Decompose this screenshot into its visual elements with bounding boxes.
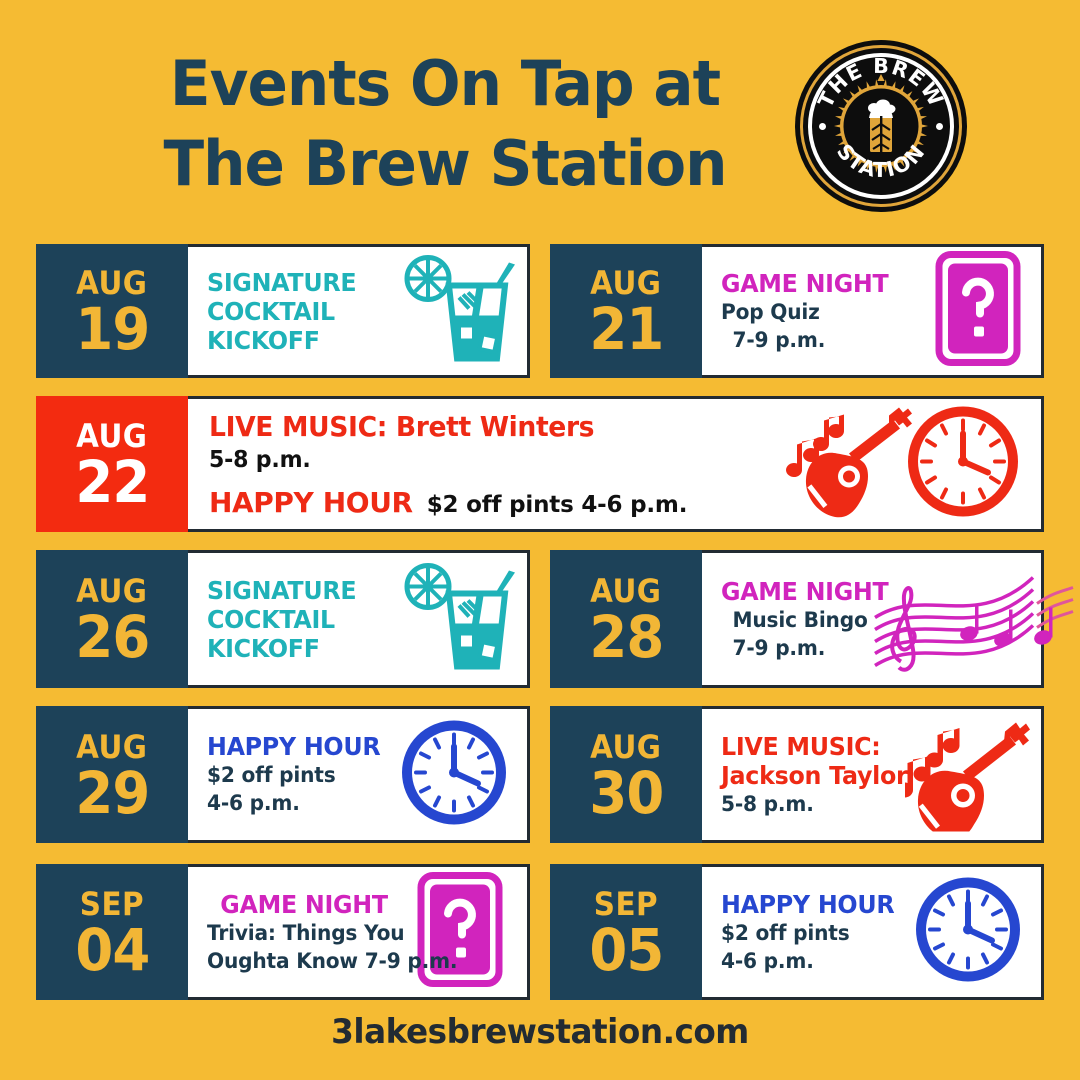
clock-icon [913,875,1023,990]
date-block: AUG 19 [36,244,188,378]
event-text: LIVE MUSIC: Jackson Taylor 5-8 p.m. [699,732,917,818]
page-title: Events On Tap at The Brew Station [110,44,780,204]
event-detail-2: 4-6 p.m. [721,947,896,975]
date-day: 28 [589,608,663,666]
date-block: AUG 28 [550,550,702,688]
guitar-and-clock-icon [777,402,1027,527]
cocktail-glass-icon [401,253,519,370]
happy-hour-label: HAPPY HOUR [209,486,413,519]
date-block: AUG 21 [550,244,702,378]
event-card-aug-28[interactable]: AUG 28 GAME NIGHT Music Bingo 7-9 p.m. [550,550,1044,688]
date-day: 21 [589,300,663,358]
date-day: 30 [589,764,663,822]
event-detail-1: Pop Quiz [721,298,890,326]
event-title-line-3: KICKOFF [207,634,356,663]
event-detail-2: 7-9 p.m. [721,634,890,662]
date-block: SEP 04 [36,864,188,1000]
event-text: GAME NIGHT Trivia: Things You Oughta Kno… [185,890,468,975]
event-card-aug-22[interactable]: AUG 22 LIVE MUSIC: Brett Winters 5-8 p.m… [36,396,1044,532]
event-body: LIVE MUSIC: Jackson Taylor 5-8 p.m. [699,709,1041,840]
date-block: AUG 22 [36,396,188,532]
event-title-line-3: KICKOFF [207,326,356,355]
date-day: 22 [75,453,149,511]
event-title-line-1: LIVE MUSIC: [721,732,907,761]
event-body: GAME NIGHT Pop Quiz 7-9 p.m. [699,247,1041,375]
date-day: 04 [75,921,149,979]
event-title-line-2: COCKTAIL [207,605,356,634]
footer-website[interactable]: 3lakesbrewstation.com [22,1012,1059,1052]
date-block: SEP 05 [550,864,702,1000]
clock-icon [399,717,509,832]
event-text: GAME NIGHT Pop Quiz 7-9 p.m. [699,269,897,354]
happy-hour-deal: $2 off pints 4-6 p.m. [427,492,688,518]
event-body: GAME NIGHT Music Bingo 7-9 p.m. [699,553,1041,685]
event-title-line-1: SIGNATURE [207,576,356,605]
event-detail-1: $2 off pints [207,761,382,789]
event-body: HAPPY HOUR $2 off pints 4-6 p.m. [185,709,527,840]
event-text: HAPPY HOUR $2 off pints 4-6 p.m. [699,890,903,975]
date-day: 29 [75,764,149,822]
event-detail-2: 7-9 p.m. [721,326,890,354]
title-line-2: The Brew Station [123,124,766,204]
event-title-line-1: SIGNATURE [207,268,356,297]
event-text: SIGNATURE COCKTAIL KICKOFF [185,576,364,663]
event-card-aug-29[interactable]: AUG 29 HAPPY HOUR $2 off pints 4-6 p.m. [36,706,530,843]
question-card-icon [933,250,1023,373]
event-body: SIGNATURE COCKTAIL KICKOFF [185,247,527,375]
event-body: LIVE MUSIC: Brett Winters 5-8 p.m. HAPPY… [185,399,1041,529]
event-detail-1: $2 off pints [721,919,896,947]
event-body: HAPPY HOUR $2 off pints 4-6 p.m. [699,867,1041,997]
cocktail-glass-icon [401,561,519,678]
event-detail-2: 4-6 p.m. [207,789,382,817]
happy-hour-row: HAPPY HOUR$2 off pints 4-6 p.m. [209,486,687,519]
date-block: AUG 30 [550,706,702,843]
event-text: SIGNATURE COCKTAIL KICKOFF [185,268,364,355]
guitar-icon [905,713,1035,836]
event-card-sep-04[interactable]: SEP 04 GAME NIGHT Trivia: Things You Oug… [36,864,530,1000]
date-day: 19 [75,300,149,358]
event-body: SIGNATURE COCKTAIL KICKOFF [185,553,527,685]
date-block: AUG 29 [36,706,188,843]
event-card-aug-21[interactable]: AUG 21 GAME NIGHT Pop Quiz 7-9 p.m. [550,244,1044,378]
event-body: GAME NIGHT Trivia: Things You Oughta Kno… [185,867,527,997]
event-card-aug-30[interactable]: AUG 30 LIVE MUSIC: Jackson Taylor 5-8 p.… [550,706,1044,843]
date-day: 26 [75,608,149,666]
event-title-line-2: COCKTAIL [207,297,356,326]
event-text: LIVE MUSIC: Brett Winters 5-8 p.m. HAPPY… [185,410,687,519]
date-block: AUG 26 [36,550,188,688]
event-title: GAME NIGHT [207,890,455,919]
event-card-aug-19[interactable]: AUG 19 SIGNATURE COCKTAIL KICKOFF [36,244,530,378]
event-title: GAME NIGHT [721,269,888,298]
event-title: HAPPY HOUR [207,732,380,761]
event-card-sep-05[interactable]: SEP 05 HAPPY HOUR $2 off pints 4-6 p.m. [550,864,1044,1000]
live-music-title: LIVE MUSIC: Brett Winters [209,410,663,444]
event-detail-1: 5-8 p.m. [721,790,909,818]
event-title-line-2: Jackson Taylor [721,761,907,790]
live-music-time: 5-8 p.m. [209,444,668,476]
title-line-1: Events On Tap at [123,44,766,124]
event-text: GAME NIGHT Music Bingo 7-9 p.m. [699,577,897,662]
poster-header: Events On Tap at The Brew Station [0,0,1080,232]
event-text: HAPPY HOUR $2 off pints 4-6 p.m. [185,732,389,817]
date-day: 05 [589,921,663,979]
brew-station-logo: THE BREW STATION [795,40,967,212]
event-title: GAME NIGHT [721,577,888,606]
event-detail-1: Trivia: Things You [207,919,457,947]
event-title: HAPPY HOUR [721,890,894,919]
event-card-aug-26[interactable]: AUG 26 SIGNATURE COCKTAIL KICKOFF [36,550,530,688]
event-detail-2: Oughta Know 7-9 p.m. [207,947,457,975]
event-detail-1: Music Bingo [721,606,890,634]
logo-artwork-icon: THE BREW STATION [795,40,967,212]
